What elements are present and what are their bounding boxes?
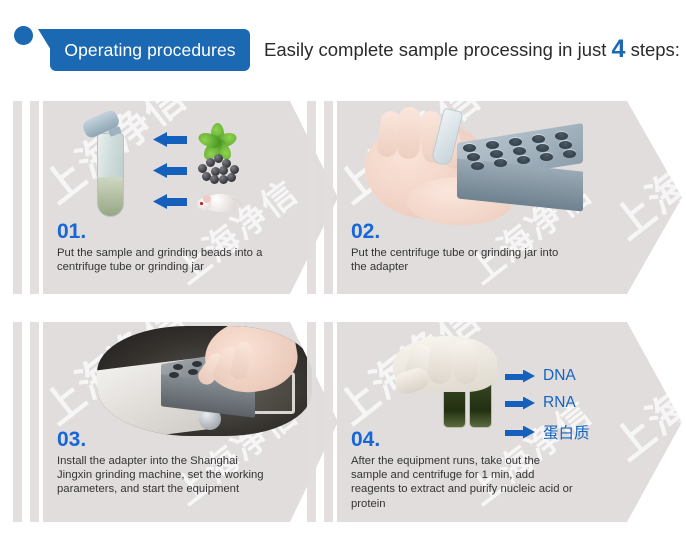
- watermark-text: 上海净信: [599, 322, 682, 471]
- step-card-03: 上海净信 上海净信: [8, 322, 338, 522]
- adapter-block-icon: [457, 133, 583, 207]
- step-count: 4: [612, 35, 626, 63]
- step-number: 04.: [351, 429, 576, 451]
- centrifuge-tube-icon: [87, 115, 133, 219]
- step-card-01: 上海净信 上海净信: [8, 101, 338, 294]
- output-row-dna: DNA: [505, 367, 576, 385]
- decor-stripe: [307, 322, 316, 522]
- page-title: Easily complete sample processing in jus…: [264, 31, 680, 68]
- arrow-right-icon: [153, 194, 187, 209]
- decor-stripe: [30, 322, 39, 522]
- steps-grid: 上海净信 上海净信: [0, 86, 686, 538]
- decor-stripe: [13, 322, 22, 522]
- arrow-right-icon: [153, 132, 187, 147]
- plant-leaf-icon: [198, 119, 238, 157]
- step-text-01: 01. Put the sample and grinding beads in…: [57, 221, 272, 274]
- step-card-02: 上海净信 上海净信 上海净信: [302, 101, 682, 294]
- decor-stripe: [13, 101, 22, 294]
- step-text-03: 03. Install the adapter into the Shangha…: [57, 429, 272, 497]
- badge-label: Operating procedures: [64, 40, 235, 61]
- step-description: Install the adapter into the Shanghai Ji…: [57, 454, 272, 497]
- subtitle-part-1: Easily complete sample processing in jus…: [264, 39, 612, 60]
- output-row-rna: RNA: [505, 394, 576, 412]
- output-label: DNA: [543, 367, 576, 385]
- decor-stripe: [30, 101, 39, 294]
- operating-procedures-badge: Operating procedures: [50, 29, 250, 71]
- lab-mouse-icon: [195, 187, 243, 217]
- step-panel: 上海净信 上海净信 上海净信 DNA RNA: [337, 322, 682, 522]
- bullet-dot-icon: [14, 26, 33, 45]
- step-description: Put the centrifuge tube or grinding jar …: [351, 246, 576, 274]
- step-description: Put the sample and grinding beads into a…: [57, 246, 272, 274]
- watermark-text: 上海净信: [599, 101, 682, 250]
- header: Operating procedures Easily complete sam…: [0, 0, 686, 86]
- subtitle-part-2: steps:: [625, 39, 680, 60]
- step-number: 01.: [57, 221, 272, 243]
- artwork-step-03: [97, 326, 312, 436]
- step-description: After the equipment runs, take out the s…: [351, 454, 576, 511]
- step-card-04: 上海净信 上海净信 上海净信 DNA RNA: [302, 322, 682, 522]
- decor-stripe: [324, 322, 333, 522]
- step-text-02: 02. Put the centrifuge tube or grinding …: [351, 221, 576, 274]
- step-number: 02.: [351, 221, 576, 243]
- output-label: RNA: [543, 394, 576, 412]
- step-panel: 上海净信 上海净信: [43, 101, 338, 294]
- decor-stripe: [324, 101, 333, 294]
- arrow-right-icon: [505, 370, 535, 383]
- arrow-right-icon: [153, 163, 187, 178]
- step-panel: 上海净信 上海净信: [43, 322, 338, 522]
- artwork-step-02: [365, 105, 585, 223]
- decor-stripe: [307, 101, 316, 294]
- arrow-right-icon: [505, 397, 535, 410]
- grinding-beads-icon: [196, 154, 242, 184]
- infographic-root: Operating procedures Easily complete sam…: [0, 0, 686, 538]
- step-text-04: 04. After the equipment runs, take out t…: [351, 429, 576, 511]
- step-panel: 上海净信 上海净信 上海净信: [337, 101, 682, 294]
- step-number: 03.: [57, 429, 272, 451]
